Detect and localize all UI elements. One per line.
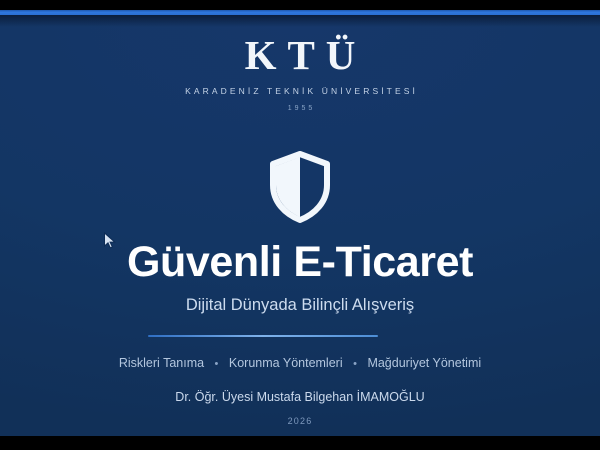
bottom-letterbox-bar <box>0 436 600 450</box>
divider <box>148 335 378 337</box>
shield-icon-container <box>0 151 600 223</box>
ktu-wordmark: KTÜ <box>0 33 600 77</box>
topic-list: Riskleri Tanıma • Korunma Yöntemleri • M… <box>0 354 600 373</box>
topic-item-1: Korunma Yöntemleri <box>229 356 343 370</box>
page-subtitle: Dijital Dünyada Bilinçli Alışveriş <box>0 294 600 316</box>
topic-item-0: Riskleri Tanıma <box>119 356 204 370</box>
page-title: Güvenli E-Ticaret <box>0 236 600 288</box>
author-name: Dr. Öğr. Üyesi Mustafa Bilgehan İMAMOĞLU <box>0 388 600 406</box>
ktu-crest: KTÜ KARADENİZ TEKNİK ÜNİVERSİTESİ 1955 <box>0 33 600 113</box>
slide-year: 2026 <box>0 415 600 428</box>
ktu-founded-year: 1955 <box>0 104 600 113</box>
topic-item-2: Mağduriyet Yönetimi <box>367 356 481 370</box>
title-slide[interactable]: KTÜ KARADENİZ TEKNİK ÜNİVERSİTESİ 1955 G… <box>0 15 600 436</box>
topic-separator-0: • <box>208 358 226 370</box>
shield-icon <box>268 151 332 223</box>
presentation-viewer: KTÜ KARADENİZ TEKNİK ÜNİVERSİTESİ 1955 G… <box>0 0 600 450</box>
topic-separator-1: • <box>346 358 364 370</box>
top-letterbox-bar <box>0 0 600 10</box>
ktu-full-name: KARADENİZ TEKNİK ÜNİVERSİTESİ <box>0 86 600 97</box>
